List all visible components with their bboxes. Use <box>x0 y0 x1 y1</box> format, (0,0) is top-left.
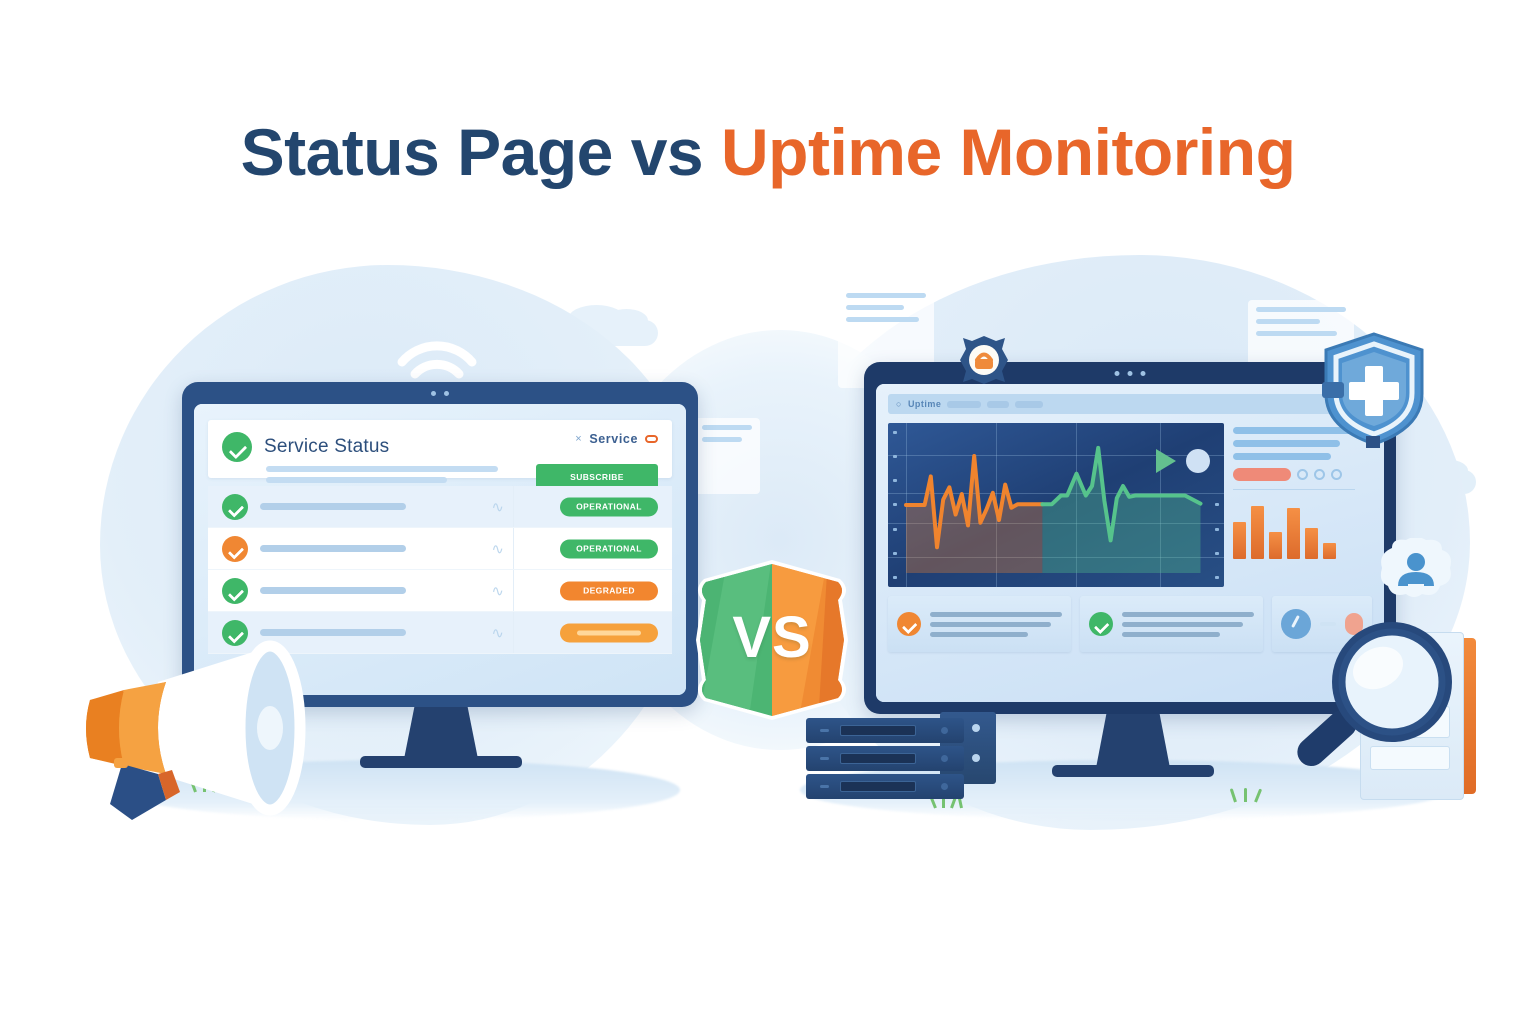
chart-area-fill-uptime <box>1042 448 1200 573</box>
row-divider <box>513 528 514 569</box>
row-divider <box>513 570 514 611</box>
topbar-segment <box>947 401 981 408</box>
status-page-title: Service Status <box>264 436 389 458</box>
versus-label: VS <box>688 556 856 724</box>
topbar-segment <box>987 401 1009 408</box>
server-drive-slot <box>840 781 916 792</box>
page-title-primary: Status Page vs <box>241 115 721 189</box>
service-name-placeholder <box>260 587 406 594</box>
placeholder-line <box>1122 622 1243 627</box>
green-check-circle-icon <box>222 432 252 462</box>
page-title-accent: Uptime Monitoring <box>721 115 1295 189</box>
card-text-lines <box>930 612 1062 637</box>
server-drive-slot <box>840 753 916 764</box>
list-item[interactable]: ∿ Operational <box>208 528 672 570</box>
monitor-stand-base-left <box>360 756 522 768</box>
orange-check-circle-icon <box>222 536 248 562</box>
topbar-segment <box>1015 401 1043 408</box>
server-unit <box>806 746 964 771</box>
ring-indicator-icon <box>1314 469 1325 480</box>
decoration-line <box>702 437 742 442</box>
dashboard-topbar: ○ Uptime <box>888 394 1372 414</box>
page-title: Status Page vs Uptime Monitoring <box>0 118 1536 187</box>
placeholder-line <box>266 466 498 472</box>
decoration-panel-card <box>694 418 760 494</box>
green-check-circle-icon <box>222 578 248 604</box>
orange-check-circle-icon <box>897 612 921 636</box>
ring-indicator-icon <box>1297 469 1308 480</box>
response-time-chart[interactable] <box>888 423 1224 587</box>
decoration-line <box>1256 307 1346 312</box>
list-item[interactable]: ∿ Operational <box>208 486 672 528</box>
decoration-line <box>846 317 919 322</box>
status-page-header-meta: × Service <box>575 432 658 446</box>
uptime-sparkline-icon: ∿ <box>491 624 504 642</box>
placeholder-line <box>930 632 1028 637</box>
placeholder-line <box>1122 632 1220 637</box>
monitor-stand-base-right <box>1052 765 1214 777</box>
user-avatar-icon <box>1378 538 1454 606</box>
decoration-line <box>846 305 904 310</box>
sidebar-highlight-row <box>1233 468 1355 481</box>
service-name-placeholder <box>260 545 406 552</box>
bar-2 <box>1251 506 1264 559</box>
close-icon[interactable]: × <box>575 433 582 445</box>
status-badge: Operational <box>560 497 658 516</box>
server-knob <box>941 783 948 790</box>
status-page-header: Service Status × Service Subscribe <box>208 420 672 478</box>
service-name-placeholder <box>260 503 406 510</box>
uptime-sparkline-icon: ∿ <box>491 540 504 558</box>
green-check-circle-icon <box>1089 612 1113 636</box>
green-check-circle-icon <box>222 494 248 520</box>
placeholder-line <box>266 477 447 483</box>
ring-indicator-icon <box>1331 469 1342 480</box>
uptime-sparkline-icon: ∿ <box>491 582 504 600</box>
monitor-stand-neck-right <box>1096 714 1170 768</box>
magnifying-glass-icon <box>1284 606 1474 796</box>
app-logo-glyph: ○ <box>896 399 902 409</box>
grass-decoration <box>1232 786 1272 802</box>
webcam-dots <box>431 391 449 396</box>
placeholder-line <box>930 612 1062 617</box>
service-label: Service <box>589 432 638 446</box>
app-name-label: Uptime <box>908 399 942 409</box>
lock-badge-icon <box>958 334 1010 386</box>
server-led <box>820 757 829 760</box>
chart-series-svg <box>888 423 1224 587</box>
bar-4 <box>1287 508 1300 559</box>
server-knob <box>941 727 948 734</box>
decoration-line <box>846 293 926 298</box>
decoration-line <box>702 425 752 430</box>
incidents-bar-chart[interactable] <box>1233 489 1355 559</box>
status-dot-indicator <box>1186 449 1210 473</box>
server-led <box>820 729 829 732</box>
status-page-header-text-lines <box>266 466 498 488</box>
megaphone-icon <box>62 624 332 824</box>
list-item[interactable]: ∿ Degraded <box>208 570 672 612</box>
row-divider <box>513 486 514 527</box>
toggle-icon[interactable] <box>645 435 658 443</box>
placeholder-line <box>930 622 1051 627</box>
bar-1 <box>1233 522 1246 559</box>
placeholder-line <box>1233 453 1331 460</box>
bar-6 <box>1323 543 1336 559</box>
bar-5 <box>1305 528 1318 559</box>
server-led <box>820 785 829 788</box>
play-marker-icon[interactable] <box>1156 449 1176 473</box>
server-stack-icon <box>806 716 996 812</box>
progress-bar-fill <box>577 630 641 635</box>
placeholder-line <box>1122 612 1254 617</box>
monitor-stand-neck-left <box>404 707 478 759</box>
status-badge: Degraded <box>560 581 658 600</box>
status-card-healthy[interactable] <box>1080 596 1263 652</box>
uptime-sparkline-icon: ∿ <box>491 498 504 516</box>
decoration-line <box>1256 319 1320 324</box>
versus-shield-badge: VS <box>688 556 856 724</box>
status-card-warning[interactable] <box>888 596 1071 652</box>
webcam-dots <box>1115 371 1146 376</box>
shield-plus-icon <box>1322 330 1426 448</box>
status-badge: Operational <box>560 539 658 558</box>
server-knob <box>941 755 948 762</box>
card-text-lines <box>1122 612 1254 637</box>
server-drive-slot <box>840 725 916 736</box>
bar-3 <box>1269 532 1282 559</box>
row-divider <box>513 612 514 653</box>
alert-pill <box>1233 468 1291 481</box>
server-unit <box>806 774 964 799</box>
status-progress-badge <box>560 623 658 642</box>
dashboard-body <box>888 423 1372 587</box>
